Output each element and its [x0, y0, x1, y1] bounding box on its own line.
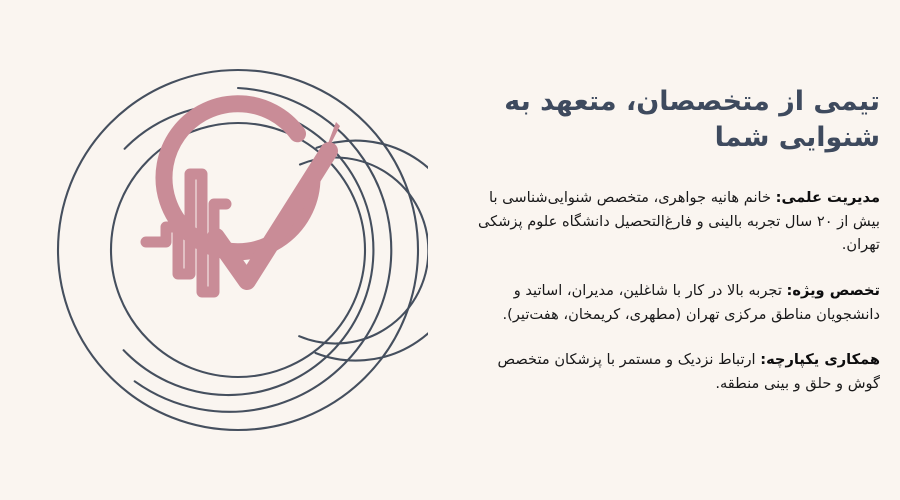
- paragraph-lead: همکاری یکپارچه:: [760, 351, 880, 368]
- paragraph-scientific-management: مدیریت علمی: خانم هانیه جواهری، متخصص شن…: [468, 186, 880, 257]
- copy-panel: تیمی از متخصصان، متعهد به شنوایی شما مدی…: [450, 0, 900, 500]
- paragraph-lead: مدیریت علمی:: [776, 189, 880, 206]
- audiology-logo-graphic: [48, 18, 428, 483]
- slide-root: تیمی از متخصصان، متعهد به شنوایی شما مدی…: [0, 0, 900, 500]
- page-title: تیمی از متخصصان، متعهد به شنوایی شما: [468, 84, 880, 155]
- paragraph-lead: تخصص ویژه:: [787, 282, 880, 299]
- paragraph-list: مدیریت علمی: خانم هانیه جواهری، متخصص شن…: [468, 186, 880, 395]
- logo-panel: [0, 0, 450, 500]
- paragraph-special-expertise: تخصص ویژه: تجربه بالا در کار با شاغلین، …: [468, 279, 880, 326]
- paragraph-integrated-cooperation: همکاری یکپارچه: ارتباط نزدیک و مستمر با …: [468, 348, 880, 395]
- logo-checkmark: [216, 151, 329, 281]
